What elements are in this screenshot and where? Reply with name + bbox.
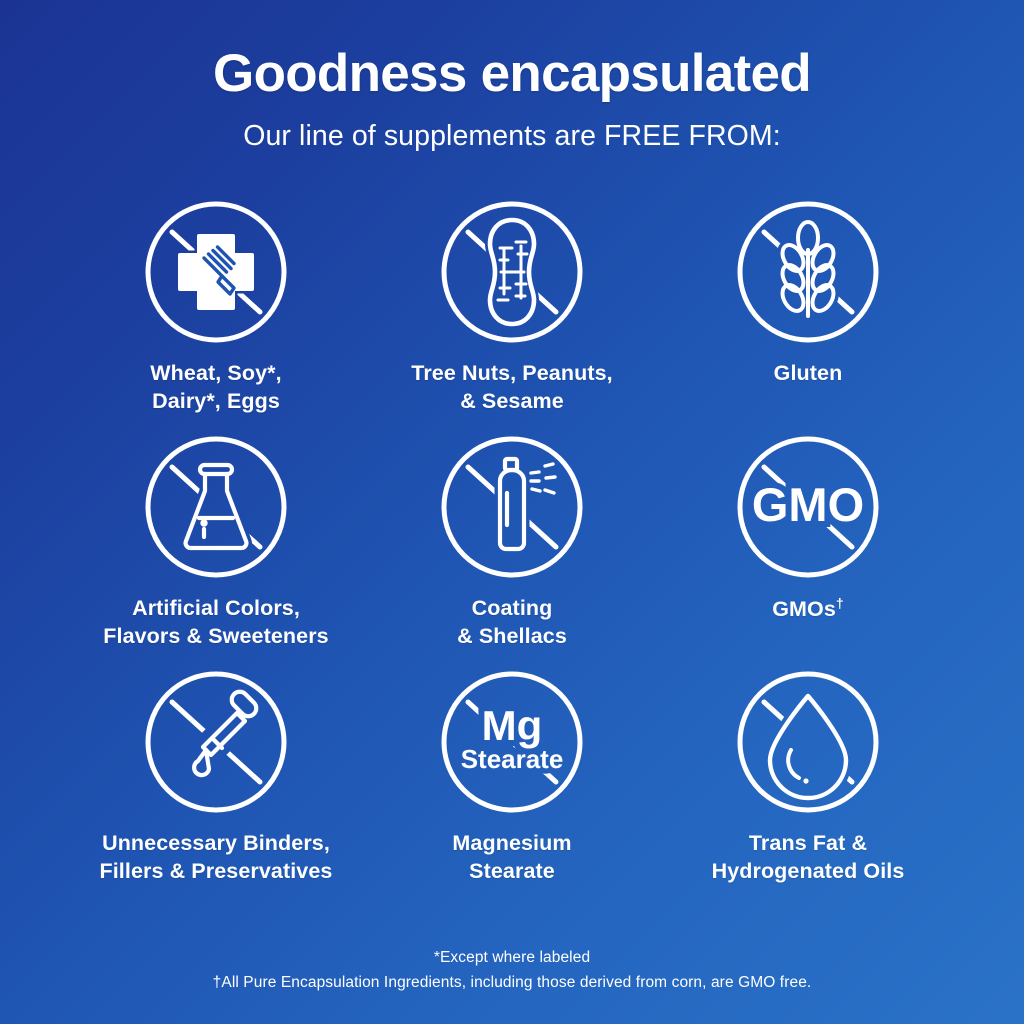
grid-item-label: Coating & Shellacs — [457, 595, 567, 650]
stearate-icon-text: Stearate — [461, 744, 564, 774]
no-trans-fat-droplet-icon — [734, 668, 882, 816]
grid-item-label: Unnecessary Binders, Fillers & Preservat… — [100, 830, 333, 885]
grid-item-unnecessary-binders: Unnecessary Binders, Fillers & Preservat… — [68, 668, 364, 903]
grid-item-tree-nuts-peanuts-sesame: Tree Nuts, Peanuts, & Sesame — [364, 198, 660, 433]
grid-item-label: Trans Fat & Hydrogenated Oils — [712, 830, 905, 885]
no-magnesium-stearate-icon: Mg Stearate Mg Stearate — [438, 668, 586, 816]
no-gmo-icon: GMO GMO — [734, 433, 882, 581]
grid-item-gmos: GMO GMO GMOs† — [660, 433, 956, 668]
no-coating-spray-can-icon — [438, 433, 586, 581]
grid-item-label: Wheat, Soy*, Dairy*, Eggs — [150, 360, 281, 415]
grid-item-label-text: GMOs — [772, 597, 836, 621]
page-subtitle: Our line of supplements are FREE FROM: — [0, 120, 1024, 153]
grid-item-coating-shellacs: Coating & Shellacs — [364, 433, 660, 668]
grid-item-label: Artificial Colors, Flavors & Sweeteners — [103, 595, 328, 650]
grid-item-label: Gluten — [774, 360, 843, 388]
grid-item-trans-fat: Trans Fat & Hydrogenated Oils — [660, 668, 956, 903]
grid-item-gluten: Gluten — [660, 198, 956, 433]
mg-icon-text: Mg — [482, 702, 543, 749]
footnote-dagger: †All Pure Encapsulation Ingredients, inc… — [0, 971, 1024, 996]
grid-item-label: GMOs† — [772, 595, 844, 624]
grid-item-artificial-colors: Artificial Colors, Flavors & Sweeteners — [68, 433, 364, 668]
infographic-poster: Goodness encapsulated Our line of supple… — [0, 0, 1024, 1024]
grid-item-wheat-soy-dairy-eggs: Wheat, Soy*, Dairy*, Eggs — [68, 198, 364, 433]
no-peanut-icon — [438, 198, 586, 346]
free-from-grid: Wheat, Soy*, Dairy*, Eggs — [68, 198, 956, 903]
no-gluten-wheat-stalk-icon — [734, 198, 882, 346]
dagger-mark: † — [836, 595, 844, 611]
grid-item-label: Magnesium Stearate — [452, 830, 571, 885]
footnote-asterisk: *Except where labeled — [0, 946, 1024, 971]
no-dropper-binders-icon — [142, 668, 290, 816]
page-title: Goodness encapsulated — [0, 46, 1024, 102]
grid-item-label: Tree Nuts, Peanuts, & Sesame — [411, 360, 612, 415]
no-artificial-flask-icon — [142, 433, 290, 581]
header: Goodness encapsulated Our line of supple… — [0, 46, 1024, 153]
grid-item-magnesium-stearate: Mg Stearate Mg Stearate Magnesium Steara… — [364, 668, 660, 903]
no-wheat-soy-dairy-eggs-icon — [142, 198, 290, 346]
gmo-icon-text: GMO — [752, 478, 864, 531]
footnotes: *Except where labeled †All Pure Encapsul… — [0, 946, 1024, 996]
